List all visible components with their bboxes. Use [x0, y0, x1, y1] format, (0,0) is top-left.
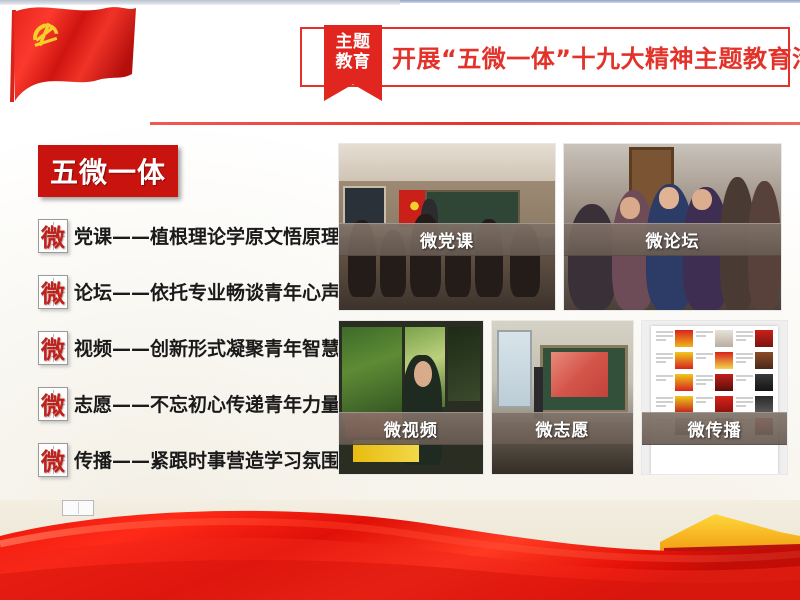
slide-footer-decoration — [0, 500, 800, 600]
window-top-strip-left — [0, 0, 400, 5]
left-content-panel: 五微一体 微 党课——植根理论学原文悟原理 微 论坛——依托专业畅谈青年心声 微… — [30, 145, 330, 495]
list-item[interactable]: 微 传播——紧跟时事营造学习氛围 — [30, 439, 330, 480]
photo-row-bottom: 微视频 微志愿 — [338, 320, 788, 475]
window-top-strip-right — [400, 0, 800, 3]
list-item-label: 传播——紧跟时事营造学习氛围 — [74, 446, 340, 473]
micro-char-label: 微 — [39, 220, 67, 252]
photo-caption: 微党课 — [339, 223, 555, 256]
photo-row-top: 微党课 微论坛 — [338, 143, 788, 311]
photo-caption: 微视频 — [339, 412, 483, 445]
photo-caption: 微传播 — [642, 412, 787, 445]
projector-classroom-photo — [492, 321, 634, 474]
red-silk-ribbon — [0, 500, 800, 600]
slide-header: 主题 教育 开展“五微一体”十九大精神主题教育活动 — [300, 27, 790, 87]
photo-caption: 微志愿 — [492, 412, 634, 445]
photo-card-weishipin[interactable]: 微视频 — [338, 320, 484, 475]
micro-grid-icon: 微 — [38, 443, 68, 477]
micro-char-label: 微 — [39, 276, 67, 308]
section-title-label: 五微一体 — [50, 151, 166, 191]
five-micro-list: 微 党课——植根理论学原文悟原理 微 论坛——依托专业畅谈青年心声 微 视频——… — [30, 215, 330, 480]
list-item-label: 党课——植根理论学原文悟原理 — [74, 222, 340, 249]
micro-char-label: 微 — [39, 388, 67, 420]
list-item[interactable]: 微 视频——创新形式凝聚青年智慧 — [30, 327, 330, 368]
photo-caption: 微论坛 — [564, 223, 781, 256]
badge-line-2: 教育 — [336, 52, 371, 72]
section-title-badge: 五微一体 — [38, 145, 178, 197]
header-divider — [150, 122, 800, 125]
presentation-slide: 主题 教育 开展“五微一体”十九大精神主题教育活动 五微一体 微 党课——植根理… — [0, 0, 800, 600]
micro-char-label: 微 — [39, 332, 67, 364]
list-item-label: 志愿——不忘初心传递青年力量 — [74, 390, 340, 417]
micro-char-label: 微 — [39, 444, 67, 476]
party-flag-icon — [2, 2, 142, 110]
badge-line-1: 主题 — [336, 32, 371, 52]
list-item[interactable]: 微 党课——植根理论学原文悟原理 — [30, 215, 330, 256]
photo-gallery: 微党课 微论坛 — [338, 143, 788, 475]
photo-card-weichuanbo[interactable]: 微传播 — [641, 320, 788, 475]
list-item-label: 论坛——依托专业畅谈青年心声 — [74, 278, 340, 305]
page-title: 开展“五微一体”十九大精神主题教育活动 — [392, 27, 782, 85]
photo-card-weiluntan[interactable]: 微论坛 — [563, 143, 782, 311]
photo-card-weizhiyuan[interactable]: 微志愿 — [491, 320, 635, 475]
video-recording-photo — [339, 321, 483, 474]
micro-grid-icon: 微 — [38, 331, 68, 365]
list-item-label: 视频——创新形式凝聚青年智慧 — [74, 334, 340, 361]
photo-card-weidangke[interactable]: 微党课 — [338, 143, 556, 311]
list-item[interactable]: 微 论坛——依托专业畅谈青年心声 — [30, 271, 330, 312]
web-article-list-photo — [642, 321, 787, 474]
micro-grid-icon: 微 — [38, 275, 68, 309]
slide-corner-marker — [62, 500, 94, 516]
list-item[interactable]: 微 志愿——不忘初心传递青年力量 — [30, 383, 330, 424]
micro-grid-icon: 微 — [38, 387, 68, 421]
micro-grid-icon: 微 — [38, 219, 68, 253]
